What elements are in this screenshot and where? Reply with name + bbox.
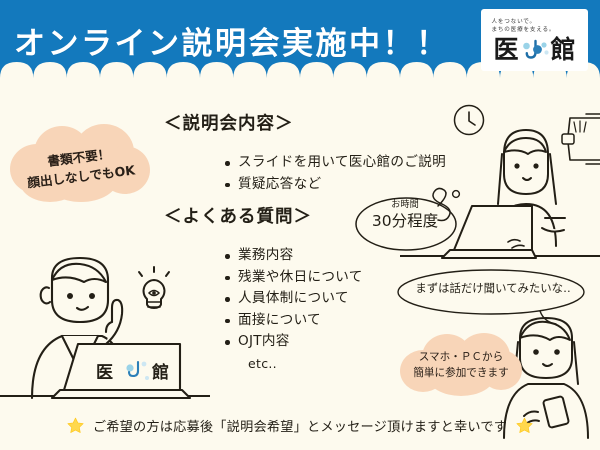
footer-text: ご希望の方は応募後「説明会希望」とメッセージ頂けますと幸いです (93, 416, 507, 435)
star-icon (516, 417, 533, 434)
brand-logo: 人をつないで。 まちの医療を支える。 医 館 (481, 9, 588, 71)
illustration-laptop-right (436, 198, 552, 268)
logo-wordmark: 医 館 (493, 36, 575, 63)
list-item: スライドを用いて医心館のご説明 (222, 152, 446, 174)
bubble-just-listening-text: まずは話だけ聞いてみたいな‥ (398, 280, 588, 296)
logo-tagline-1: 人をつないで。 (492, 18, 578, 26)
list-item: OJT内容 (222, 331, 363, 353)
star-icon (67, 417, 84, 434)
logo-char-left: 医 (493, 36, 518, 63)
list-item: 面接について (222, 310, 363, 332)
bubble-device-line1: スマホ・ＰＣから (400, 349, 522, 365)
bubble-just-listening-outline (394, 264, 592, 328)
lightbulb-icon (132, 266, 176, 314)
list-item: 残業や休日について (222, 267, 363, 289)
bubble-device-line2: 簡単に参加できます (400, 365, 522, 381)
list-item: 人員体制について (222, 288, 363, 310)
logo-tagline-2: まちの医療を支える。 (492, 26, 578, 34)
laptop-logo-right: 館 (151, 362, 169, 383)
poster-canvas: オンライン説明会実施中！！ 人をつないで。 まちの医療を支える。 医 館 ＜説明… (0, 0, 600, 450)
bubble-duration-label: お時間 (362, 198, 448, 211)
bubble-duration-text: お時間 30分程度 (362, 198, 448, 232)
laptop-logo-left: 医 (96, 363, 113, 383)
list-item-etc: etc.. (222, 353, 363, 375)
page-title: オンライン説明会実施中！！ (14, 18, 464, 70)
faq-list: 業務内容 残業や休日について 人員体制について 面接について OJT内容 etc… (182, 245, 363, 374)
section-heading-faq: ＜よくある質問＞ (164, 203, 312, 228)
illustration-laptop-left: 医 館 (48, 338, 198, 406)
bubble-device-text: スマホ・ＰＣから 簡単に参加できます (400, 349, 522, 381)
logo-char-right: 館 (551, 36, 576, 63)
heart-dots-mark-icon (520, 36, 550, 63)
list-item: 業務内容 (222, 245, 363, 267)
section-heading-contents: ＜説明会内容＞ (164, 110, 294, 135)
footer-note: ご希望の方は応募後「説明会希望」とメッセージ頂けますと幸いです (0, 413, 600, 437)
bubble-duration-value: 30分程度 (362, 211, 448, 232)
